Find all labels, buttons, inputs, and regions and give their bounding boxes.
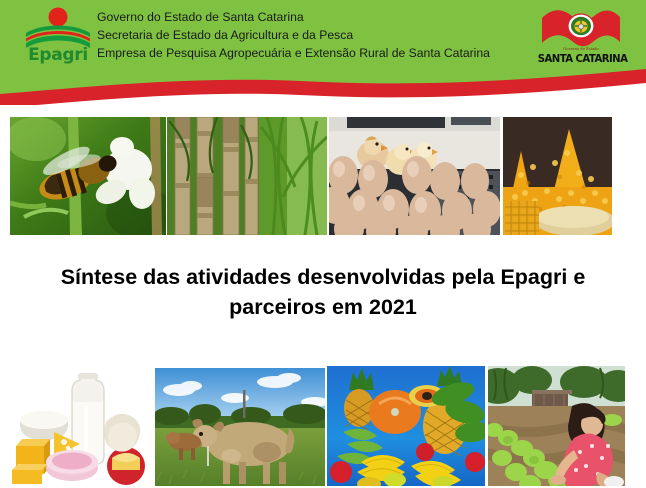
photo-dairy-products-image xyxy=(10,362,152,486)
epagri-wordmark: Epagri xyxy=(24,46,92,65)
photo-cow-pasture xyxy=(155,368,325,486)
photo-chicks-and-eggs-image xyxy=(329,117,500,235)
sc-wordmark: SANTA CATARINA xyxy=(538,52,624,65)
santa-catarina-flag-icon xyxy=(542,6,620,50)
epagri-logo: Epagri xyxy=(24,6,92,68)
header-line-2: Secretaria de Estado da Agricultura e da… xyxy=(97,26,527,44)
photo-corn-kernels-image xyxy=(503,117,612,235)
photo-bee-on-flower xyxy=(10,117,166,235)
santa-catarina-logo: Governo do Estado SANTA CATARINA xyxy=(534,6,628,68)
photo-chicks-and-eggs xyxy=(329,117,500,235)
photo-corn-kernels xyxy=(503,117,612,235)
photo-girl-gardening-image xyxy=(488,366,625,486)
photo-sugarcane xyxy=(167,117,327,235)
header-line-3: Empresa de Pesquisa Agropecuária e Exten… xyxy=(97,44,527,62)
photo-fruits-vegetables xyxy=(327,366,485,486)
header-line-1: Governo do Estado de Santa Catarina xyxy=(97,8,527,26)
photo-cow-pasture-image xyxy=(155,368,325,486)
header-banner: Epagri Governo do Estado de Santa Catari… xyxy=(0,0,646,105)
sc-gov-label: Governo do Estado xyxy=(534,46,628,51)
photo-dairy-products xyxy=(10,362,152,486)
photo-fruits-vegetables-image xyxy=(327,366,485,486)
page-title: Síntese das atividades desenvolvidas pel… xyxy=(14,262,632,322)
epagri-mark-icon xyxy=(24,6,92,50)
header-institution-text: Governo do Estado de Santa Catarina Secr… xyxy=(97,8,527,63)
photo-sugarcane-image xyxy=(167,117,327,235)
photo-bee-on-flower-image xyxy=(10,117,166,235)
photo-girl-gardening xyxy=(488,366,625,486)
